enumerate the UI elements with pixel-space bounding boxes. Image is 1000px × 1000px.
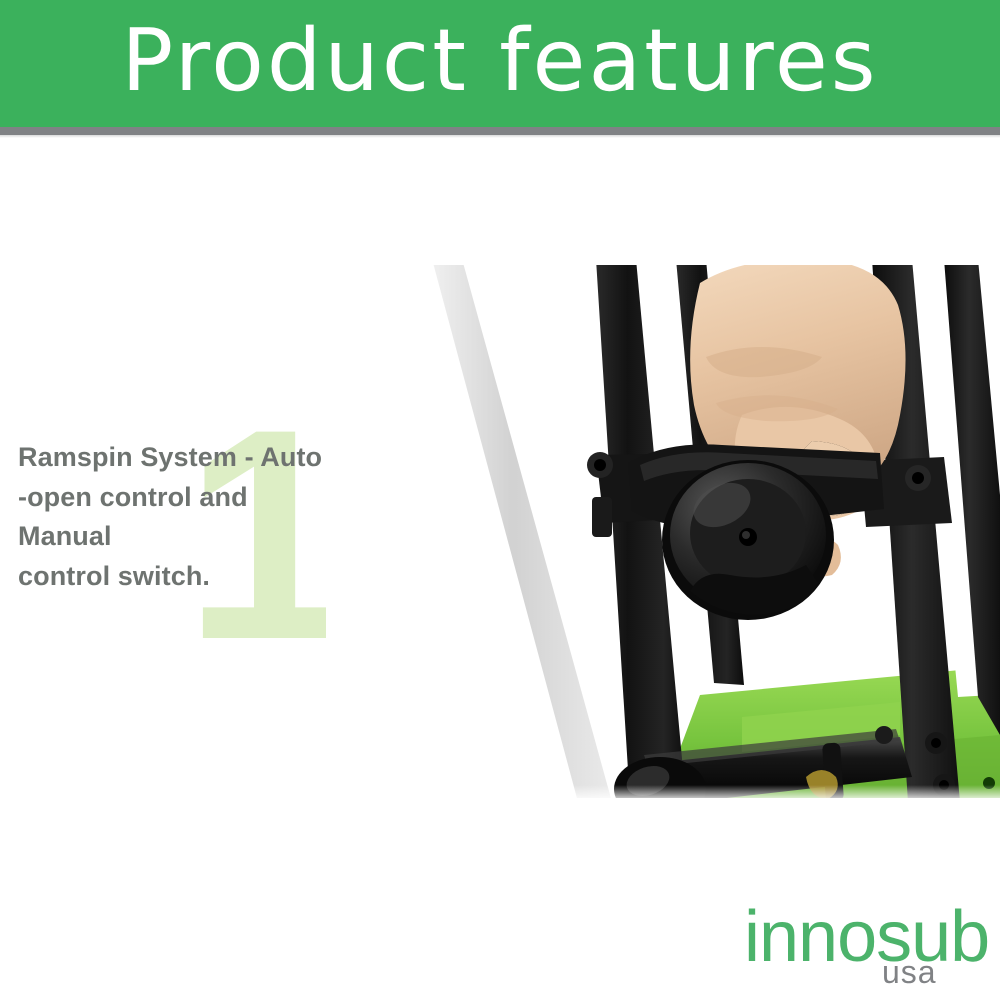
logo-wordmark: innosub — [744, 905, 989, 977]
innosub-usa-logo: innosub usa — [742, 905, 990, 987]
caption-line-2: -open control and — [18, 478, 518, 518]
innosub-logo-mark: innosub usa — [742, 905, 990, 987]
slide-root: Product features — [0, 0, 1000, 1000]
caption-line-4: control switch. — [18, 557, 518, 597]
logo-suffix: usa — [882, 954, 937, 987]
feature-caption: 1 Ramspin System - Auto -open control an… — [18, 438, 518, 597]
caption-line-3: Manual — [18, 517, 518, 557]
header-divider-shadow — [0, 135, 1000, 138]
caption-line-1: Ramspin System - Auto — [18, 438, 518, 478]
header-divider-rule — [0, 127, 1000, 135]
feature-caption-text: Ramspin System - Auto -open control and … — [18, 438, 518, 597]
page-title: Product features — [0, 0, 1000, 127]
header-band: Product features — [0, 0, 1000, 127]
